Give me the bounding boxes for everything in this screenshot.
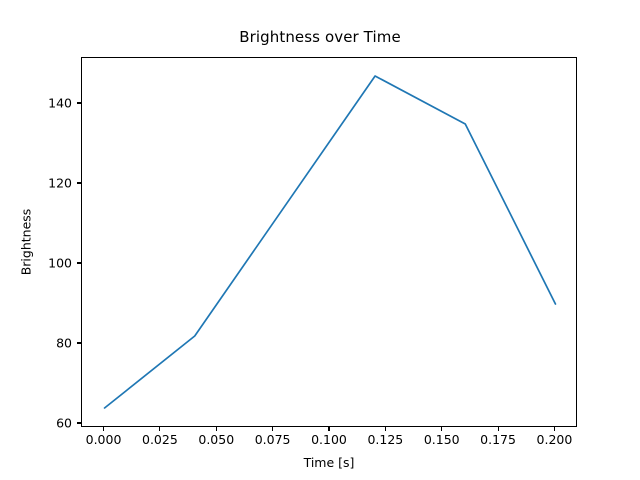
- x-tick-label: 0.175: [480, 432, 516, 447]
- x-tick-mark: [272, 427, 273, 431]
- y-tick-label: 60: [40, 416, 72, 431]
- y-tick-label: 120: [40, 176, 72, 191]
- x-tick-label: 0.000: [86, 432, 122, 447]
- x-tick-label: 0.100: [311, 432, 347, 447]
- x-tick-label: 0.075: [255, 432, 291, 447]
- x-tick-label: 0.150: [424, 432, 460, 447]
- y-tick-label: 80: [40, 336, 72, 351]
- y-tick-mark: [77, 342, 81, 343]
- line-plot: [82, 58, 578, 428]
- x-tick-label: 0.025: [142, 432, 178, 447]
- y-tick-mark: [77, 102, 81, 103]
- x-tick-label: 0.050: [198, 432, 234, 447]
- page-title: Brightness over Time: [0, 28, 640, 46]
- x-tick-mark: [328, 427, 329, 431]
- x-tick-mark: [103, 427, 104, 431]
- x-axis-label: Time [s]: [81, 455, 577, 470]
- x-tick-label: 0.200: [537, 432, 573, 447]
- x-tick-mark: [216, 427, 217, 431]
- y-tick-mark: [77, 182, 81, 183]
- x-tick-mark: [498, 427, 499, 431]
- x-tick-mark: [554, 427, 555, 431]
- y-tick-mark: [77, 422, 81, 423]
- data-series-brightness: [105, 76, 556, 408]
- x-tick-mark: [441, 427, 442, 431]
- x-tick-mark: [159, 427, 160, 431]
- y-tick-label: 100: [40, 256, 72, 271]
- y-tick-mark: [77, 262, 81, 263]
- plot-area: [81, 57, 577, 427]
- y-axis-label-text: Brightness: [19, 209, 34, 276]
- x-tick-mark: [385, 427, 386, 431]
- y-tick-label: 140: [40, 96, 72, 111]
- chart-figure: Brightness over Time 0.0000.0250.0500.07…: [0, 0, 640, 480]
- x-tick-label: 0.125: [367, 432, 403, 447]
